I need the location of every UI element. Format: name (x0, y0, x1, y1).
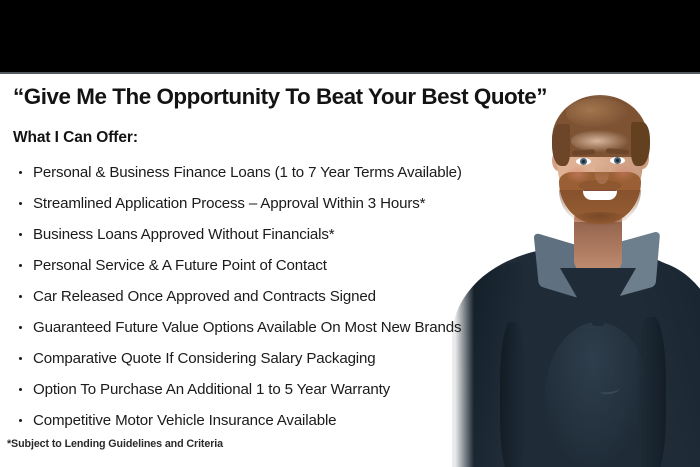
bullet-icon (19, 233, 22, 236)
list-item-label: Personal & Business Finance Loans (1 to … (33, 164, 462, 181)
list-item: Car Released Once Approved and Contracts… (13, 281, 462, 312)
iris-right (614, 157, 621, 164)
header-band (0, 0, 700, 72)
nose (595, 164, 609, 184)
sweater-arm-crease-left (500, 322, 526, 467)
list-item-label: Business Loans Approved Without Financia… (33, 226, 334, 243)
bullet-icon (19, 326, 22, 329)
hair-side-right (631, 122, 650, 166)
portrait-photo (440, 72, 700, 467)
bullet-icon (19, 295, 22, 298)
cheek-left (565, 165, 591, 183)
footnote-disclaimer: *Subject to Lending Guidelines and Crite… (7, 438, 223, 450)
list-item-label: Competitive Motor Vehicle Insurance Avai… (33, 412, 336, 429)
bullet-icon (19, 171, 22, 174)
list-item: Option To Purchase An Additional 1 to 5 … (13, 374, 462, 405)
list-item: Business Loans Approved Without Financia… (13, 219, 462, 250)
neck-shadow (574, 222, 622, 274)
list-item: Streamlined Application Process – Approv… (13, 188, 462, 219)
bullet-icon (19, 388, 22, 391)
offer-list: Personal & Business Finance Loans (1 to … (13, 157, 462, 436)
list-item-label: Car Released Once Approved and Contracts… (33, 288, 376, 305)
cheek-right (610, 164, 636, 182)
bullet-icon (19, 264, 22, 267)
bullet-icon (19, 357, 22, 360)
list-item-label: Option To Purchase An Additional 1 to 5 … (33, 381, 390, 398)
hair-side-left (552, 124, 570, 166)
list-item-label: Personal Service & A Future Point of Con… (33, 257, 327, 274)
iris-left (580, 158, 587, 165)
bullet-icon (19, 419, 22, 422)
list-item-label: Comparative Quote If Considering Salary … (33, 350, 376, 367)
header-divider (0, 72, 700, 74)
car-finance-advert: Car Finance MADE EASY... “Give Me The Op… (0, 0, 700, 467)
chin-shadow (572, 212, 628, 226)
list-item: Personal & Business Finance Loans (1 to … (13, 157, 462, 188)
list-item: Comparative Quote If Considering Salary … (13, 343, 462, 374)
eye-left (576, 158, 591, 165)
bullet-icon (19, 202, 22, 205)
list-item-label: Streamlined Application Process – Approv… (33, 195, 425, 212)
tagline: “Give Me The Opportunity To Beat Your Be… (13, 84, 693, 110)
list-item: Personal Service & A Future Point of Con… (13, 250, 462, 281)
list-item: Competitive Motor Vehicle Insurance Avai… (13, 405, 462, 436)
sweater-arm-crease-right (636, 317, 666, 467)
offer-heading: What I Can Offer: (13, 129, 138, 147)
sweater-highlight (545, 322, 650, 467)
list-item-label: Guaranteed Future Value Options Availabl… (33, 319, 461, 336)
list-item: Guaranteed Future Value Options Availabl… (13, 312, 462, 343)
eye-right (610, 157, 625, 164)
